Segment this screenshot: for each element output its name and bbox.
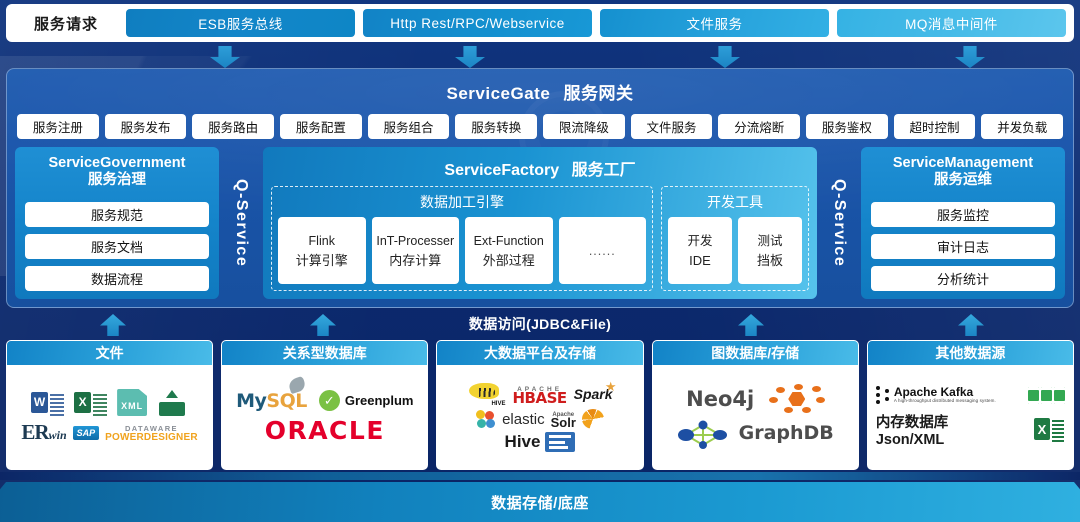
engine-card-flink-desc: 计算引擎 [296,251,348,271]
memory-db-label: 内存数据库 [876,411,949,432]
gate-tag-service-register[interactable]: 服务注册 [17,114,99,139]
devtool-card-test-mock-desc: 挡板 [757,251,783,271]
data-access-label: 数据访问(JDBC&File) [0,314,1080,334]
graphdb-logo: GraphDB [739,422,834,444]
gate-tag-service-route[interactable]: 服务路由 [192,114,274,139]
database-icon [156,390,188,416]
service-gate-title-en: ServiceGate [446,84,550,103]
q-service-label-left: Q-Service [219,147,263,299]
star-icon: ★ [605,379,617,395]
request-channel-http-rest[interactable]: Http Rest/RPC/Webservice [363,9,592,37]
devtool-card-test-mock-name: 测试 [757,231,782,251]
solr-logo: Apache Solr [551,411,576,427]
green-grid-icon [1028,387,1065,404]
pillar-row: ServiceGovernment 服务治理 服务规范 服务文档 数据流程 Q-… [7,139,1073,299]
erwin-logo: ERwin [21,420,66,445]
gate-tag-timeout-control[interactable]: 超时控制 [894,114,976,139]
service-management-title-cn: 服务运维 [871,172,1055,189]
service-factory-title: ServiceFactory 服务工厂 [271,153,809,186]
data-source-graphdb-title: 图数据库/存储 [653,341,858,365]
request-channel-mq[interactable]: MQ消息中间件 [837,9,1066,37]
government-item-service-spec[interactable]: 服务规范 [25,202,209,227]
devtool-card-ide-name: 开发 [687,231,712,251]
service-management-box[interactable]: ServiceManagement 服务运维 服务监控 审计日志 分析统计 [861,147,1065,299]
data-source-graphdb[interactable]: 图数据库/存储 Neo4j [652,340,859,470]
service-gate-panel: ServiceGate 服务网关 服务注册 服务发布 服务路由 服务配置 服务组… [6,68,1074,308]
json-xml-label: Json/XML [876,432,949,448]
elastic-wordmark: elastic [502,411,545,428]
data-source-other-title: 其他数据源 [868,341,1073,365]
engine-card-more[interactable]: ...... [559,217,647,284]
engine-card-int-processer-desc: 内存计算 [389,251,441,271]
service-gate-title: ServiceGate 服务网关 [7,69,1073,104]
data-access-band: 数据访问(JDBC&File) [0,310,1080,338]
gate-tag-service-config[interactable]: 服务配置 [280,114,362,139]
gate-tag-service-publish[interactable]: 服务发布 [105,114,187,139]
data-storage-footer: 数据存储/底座 [0,482,1080,522]
service-factory-title-cn: 服务工厂 [572,162,636,179]
sap-logo: SAP [73,426,100,440]
document-icon [545,432,575,452]
engine-card-more-label: ...... [589,241,616,261]
q-service-text-left: Q-Service [232,179,250,267]
oracle-logo: ORACLE [265,416,385,445]
elastic-logo [476,410,496,428]
hive-logo: Hive [505,432,541,452]
government-item-data-flow[interactable]: 数据流程 [25,266,209,291]
service-government-title-cn: 服务治理 [25,172,209,189]
down-arrow-row [0,44,1080,68]
word-icon: W [31,390,65,416]
greenplum-logo: ✓ Greenplum [319,390,414,411]
service-government-title: ServiceGovernment 服务治理 [25,155,209,195]
data-source-other[interactable]: 其他数据源 Apache Kafka A high-throughput dis… [867,340,1074,470]
data-source-files-logos: W X XML ERwin SAP DATAWARE [7,365,212,469]
engine-card-flink-name: Flink [309,231,335,251]
data-source-rdbms[interactable]: 关系型数据库 MySQL ✓ Greenplum ORACLE [221,340,428,470]
service-gate-capability-row: 服务注册 服务发布 服务路由 服务配置 服务组合 服务转换 限流降级 文件服务 … [7,104,1073,139]
gate-tag-concurrency-load[interactable]: 并发负载 [981,114,1063,139]
apache-kafka-logo: Apache Kafka A high-throughput distribut… [876,386,996,404]
devtool-card-test-mock[interactable]: 测试 挡板 [738,217,802,284]
neo4j-logo: Neo4j [686,387,754,411]
engine-card-int-processer[interactable]: InT-Processer 内存计算 [372,217,460,284]
service-request-label: 服务请求 [14,13,118,34]
devtool-card-ide[interactable]: 开发 IDE [668,217,732,284]
data-source-row: 文件 W X XML ERwin SAP [6,340,1074,470]
engine-card-ext-function[interactable]: Ext-Function 外部过程 [465,217,553,284]
management-item-audit-log[interactable]: 审计日志 [871,234,1055,259]
down-arrow-icon [955,46,985,68]
gate-tag-file-service[interactable]: 文件服务 [631,114,713,139]
spark-logo: Spark★ [574,386,613,402]
data-source-rdbms-logos: MySQL ✓ Greenplum ORACLE [222,365,427,469]
down-arrow-icon [710,46,740,68]
data-processing-engine-title: 数据加工引擎 [278,190,646,217]
gate-tag-service-compose[interactable]: 服务组合 [368,114,450,139]
management-item-service-monitor[interactable]: 服务监控 [871,202,1055,227]
q-service-label-right: Q-Service [817,147,861,299]
government-item-service-doc[interactable]: 服务文档 [25,234,209,259]
data-source-bigdata-title: 大数据平台及存储 [437,341,642,365]
xml-file-icon: XML [117,389,147,416]
excel-icon: X [1034,417,1065,442]
powerdesigner-logo: POWERDESIGNER [105,433,198,442]
service-gate-title-cn: 服务网关 [564,84,634,103]
hbase-logo: APACHE HBASE [512,386,566,402]
request-channel-file-service[interactable]: 文件服务 [600,9,829,37]
dev-tools-group: 开发工具 开发 IDE 测试 挡板 [661,186,809,291]
mysql-logo: MySQL [236,390,307,412]
down-arrow-icon [210,46,240,68]
gate-tag-service-transform[interactable]: 服务转换 [455,114,537,139]
devtool-card-ide-desc: IDE [689,251,711,271]
gate-tag-rate-limit[interactable]: 限流降级 [543,114,625,139]
engine-card-ext-function-desc: 外部过程 [483,251,535,271]
service-management-title: ServiceManagement 服务运维 [871,155,1055,195]
q-service-text-right: Q-Service [830,179,848,267]
data-source-other-logos: Apache Kafka A high-throughput distribut… [868,365,1073,469]
sunburst-icon [582,409,604,429]
service-factory-title-en: ServiceFactory [444,162,559,179]
data-processing-engine-group: 数据加工引擎 Flink 计算引擎 InT-Processer 内存计算 Ext… [271,186,653,291]
service-factory-box[interactable]: ServiceFactory 服务工厂 数据加工引擎 Flink 计算引擎 In… [263,147,817,299]
dev-tools-title: 开发工具 [668,190,802,217]
orange-hex-icon [768,384,824,414]
data-storage-footer-label: 数据存储/底座 [491,492,589,513]
data-source-bigdata[interactable]: 大数据平台及存储 HIVE APACHE HBASE Spark★ elasti… [436,340,643,470]
management-item-analytics[interactable]: 分析统计 [871,266,1055,291]
engine-card-ext-function-name: Ext-Function [474,231,544,251]
request-channel-esb[interactable]: ESB服务总线 [126,9,355,37]
check-circle-icon: ✓ [319,390,340,411]
service-government-title-en: ServiceGovernment [25,155,209,172]
apache-hive-bee-logo: HIVE [467,382,505,406]
footer-highlight [0,472,1080,480]
gate-tag-service-auth[interactable]: 服务鉴权 [806,114,888,139]
service-management-title-en: ServiceManagement [871,155,1055,172]
graph-nodes-icon [677,416,729,450]
data-source-graphdb-logos: Neo4j [653,365,858,469]
service-government-box[interactable]: ServiceGovernment 服务治理 服务规范 服务文档 数据流程 [15,147,219,299]
engine-card-flink[interactable]: Flink 计算引擎 [278,217,366,284]
excel-icon: X [74,390,108,416]
down-arrow-icon [455,46,485,68]
service-request-bar: 服务请求 ESB服务总线 Http Rest/RPC/Webservice 文件… [6,4,1074,42]
data-source-files-title: 文件 [7,341,212,365]
data-source-bigdata-logos: HIVE APACHE HBASE Spark★ elastic Apache … [437,365,642,469]
data-source-files[interactable]: 文件 W X XML ERwin SAP [6,340,213,470]
kafka-nodes-icon [876,386,890,404]
data-source-rdbms-title: 关系型数据库 [222,341,427,365]
gate-tag-circuit-breaker[interactable]: 分流熔断 [718,114,800,139]
engine-card-int-processer-name: InT-Processer [376,231,454,251]
